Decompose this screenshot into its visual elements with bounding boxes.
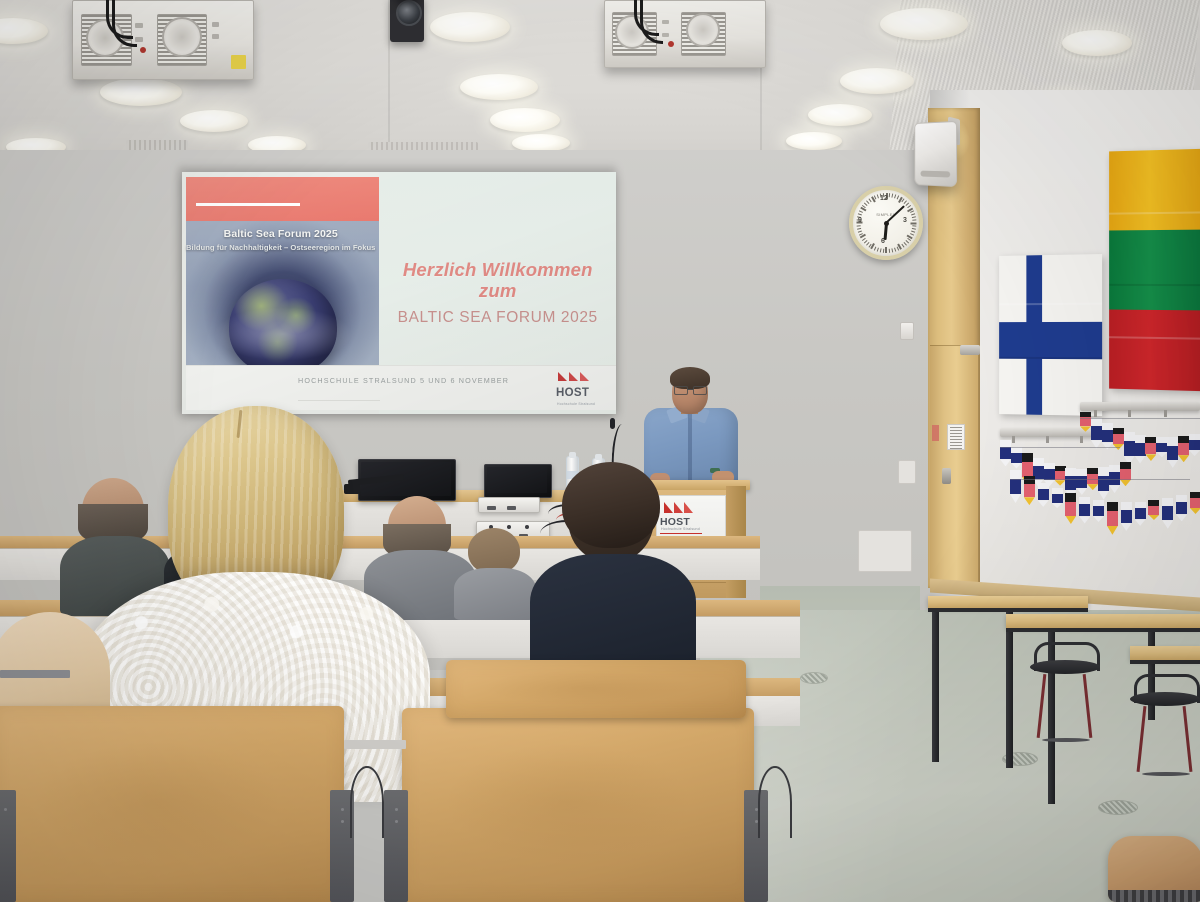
monitor-arm xyxy=(344,484,360,494)
lecture-hall-door[interactable] xyxy=(930,345,978,589)
lecture-seat-back[interactable] xyxy=(0,706,344,902)
shirt-placket xyxy=(688,412,692,482)
wall-clock: SIMPLEX 12 3 6 9 xyxy=(849,186,923,260)
table-leg xyxy=(1006,612,1013,768)
door-red-label xyxy=(932,425,939,441)
pennant-flag xyxy=(1135,502,1146,526)
ceiling-projector xyxy=(72,0,252,78)
pennant-flag xyxy=(1176,495,1187,521)
lectern-logo-rule xyxy=(660,533,702,534)
audience-torso xyxy=(454,568,536,620)
lecture-hall-photo: SIMPLEX 12 3 6 9 xyxy=(0,0,1200,902)
pennant-flag xyxy=(1093,500,1104,522)
pennant-flag xyxy=(1098,467,1109,500)
pennant-flag xyxy=(1135,435,1146,464)
microphone-head xyxy=(610,418,615,429)
clock-center-pin xyxy=(884,221,889,226)
wall-service-hatch xyxy=(858,530,912,572)
boot xyxy=(1108,836,1200,902)
pennant-flag xyxy=(1091,418,1102,449)
host-logo: HOST Hochschule Stralsund xyxy=(556,372,602,406)
pennant-flag xyxy=(1024,476,1035,505)
water-splash xyxy=(208,305,358,363)
door-handle[interactable] xyxy=(942,468,951,484)
ceiling-light xyxy=(180,110,248,132)
seat-hinge xyxy=(758,766,792,838)
pennant-flag xyxy=(1011,447,1022,469)
side-table xyxy=(1006,614,1200,632)
side-table xyxy=(928,596,1088,612)
pennant-flag xyxy=(1148,500,1159,520)
host-sail-icon xyxy=(580,372,589,381)
ceiling-camera xyxy=(390,0,424,42)
wall-outlet-plate xyxy=(898,460,916,484)
chair[interactable] xyxy=(1030,660,1100,720)
slide-red-band xyxy=(186,177,379,221)
seat-rail xyxy=(344,740,406,749)
pennant-flag xyxy=(1000,440,1011,466)
slide-white-rule xyxy=(196,203,300,206)
slide-footer: HOCHSCHULE STRALSUND 5 UND 6 NOVEMBER HO… xyxy=(186,365,616,410)
slide-footer-rule xyxy=(298,400,380,401)
welcome-line-1: Herzlich Willkommen xyxy=(403,259,593,280)
ceiling-light xyxy=(1062,30,1132,56)
pennant-flag xyxy=(1079,497,1090,523)
welcome-heading: Herzlich Willkommen zum xyxy=(403,259,593,302)
door-sign xyxy=(947,424,965,450)
pennant-flag xyxy=(1080,412,1091,432)
seat-rail xyxy=(0,670,70,678)
ceiling-light xyxy=(490,108,560,132)
pennant-flag xyxy=(1178,436,1189,462)
ceiling-light xyxy=(840,68,914,94)
event-name: BALTIC SEA FORUM 2025 xyxy=(398,309,598,327)
pennant-flag xyxy=(1124,432,1135,465)
seat-bracket xyxy=(384,790,408,902)
intercom-panel[interactable] xyxy=(900,322,914,340)
pennant-flag xyxy=(1107,502,1118,535)
coat-rail xyxy=(1080,402,1200,411)
clock-number-3: 3 xyxy=(903,217,907,224)
chair[interactable] xyxy=(1130,692,1200,752)
wall-speaker xyxy=(914,121,957,187)
slide-subtitle: Bildung für Nachhaltigkeit – Ostseeregio… xyxy=(182,243,379,252)
bunting-string xyxy=(1080,418,1200,419)
lecture-seat-back[interactable] xyxy=(402,708,754,902)
floor-vent xyxy=(800,672,828,684)
slide-footer-text: HOCHSCHULE STRALSUND 5 UND 6 NOVEMBER xyxy=(298,376,509,385)
pennant-flag xyxy=(1065,493,1076,524)
host-sail-icon xyxy=(558,372,567,381)
ceiling-light xyxy=(880,8,968,40)
table-leg xyxy=(932,612,939,762)
ceiling-projector xyxy=(604,0,764,66)
ceiling-light xyxy=(0,18,48,44)
pennant-flag xyxy=(1038,483,1049,507)
pennant-flag xyxy=(1120,462,1131,486)
side-table xyxy=(1130,646,1200,664)
host-sail-icon xyxy=(569,372,578,381)
bunting-string xyxy=(1000,447,1120,448)
clock-number-9: 9 xyxy=(858,217,862,224)
pennant-flag xyxy=(1010,470,1021,503)
host-wordmark: HOST xyxy=(556,387,589,399)
floor-vent xyxy=(1098,800,1138,815)
pennant-flag xyxy=(1055,466,1066,486)
slide-title: Baltic Sea Forum 2025 xyxy=(182,228,379,240)
host-sail-icon xyxy=(664,502,694,515)
pennant-flag xyxy=(1145,437,1156,461)
seat-bracket xyxy=(0,790,16,902)
pennant-flag xyxy=(1190,492,1200,514)
door-closer xyxy=(960,345,980,355)
pennant-flag xyxy=(1121,502,1132,531)
seat-hinge xyxy=(350,766,384,838)
clock-number-12: 12 xyxy=(880,195,888,202)
pennant-flag xyxy=(1102,423,1113,449)
pennant-flag xyxy=(1052,488,1063,508)
ceiling-vent xyxy=(126,140,188,150)
pennant-flag xyxy=(1167,437,1178,468)
glasses-icon xyxy=(674,386,706,393)
ceiling-light xyxy=(100,78,182,106)
laptop[interactable] xyxy=(484,464,550,496)
audience-hair xyxy=(562,462,660,548)
pennant-flag xyxy=(1156,437,1167,457)
lithuania-flag xyxy=(1109,149,1200,392)
lecture-seat-back[interactable] xyxy=(446,660,746,718)
finland-flag xyxy=(999,254,1102,416)
audience-torso xyxy=(530,554,696,674)
pennant-flag xyxy=(1076,469,1087,495)
host-logo-subtitle: Hochschule Stralsund xyxy=(557,402,595,406)
av-control-unit[interactable] xyxy=(478,497,540,513)
lectern-logo-sub1: Hochschule Stralsund xyxy=(661,527,700,531)
projection-screen: Baltic Sea Forum 2025 Bildung für Nachha… xyxy=(182,172,616,414)
pennant-flag xyxy=(1162,498,1173,529)
pennant-flag xyxy=(1189,434,1200,456)
ceiling-light xyxy=(430,12,510,42)
ceiling-light xyxy=(460,74,538,100)
ceiling-light xyxy=(786,132,842,150)
welcome-line-2: zum xyxy=(403,280,593,301)
presentation-slide: Baltic Sea Forum 2025 Bildung für Nachha… xyxy=(182,172,616,414)
ceiling-light xyxy=(808,104,872,126)
bunting-string xyxy=(1010,479,1190,480)
